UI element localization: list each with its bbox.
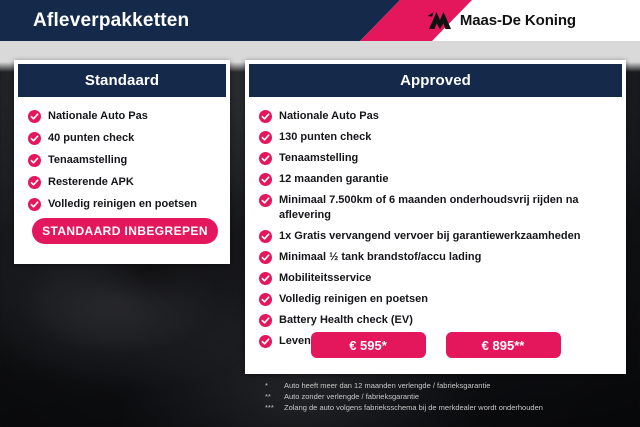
feature-label: Battery Health check (EV) bbox=[279, 313, 413, 328]
footnote-item: *** Zolang de auto volgens fabrieksschem… bbox=[265, 402, 625, 413]
feature-label: Minimaal 7.500km of 6 maanden onderhouds… bbox=[279, 193, 614, 223]
check-circle-icon bbox=[259, 152, 272, 165]
check-circle-icon bbox=[28, 154, 41, 167]
check-circle-icon bbox=[28, 176, 41, 189]
feature-label: Volledig reinigen en poetsen bbox=[279, 292, 428, 307]
footnote-marker: * bbox=[265, 380, 278, 391]
feature-label: 130 punten check bbox=[279, 130, 371, 145]
feature-label: 1x Gratis vervangend vervoer bij garanti… bbox=[279, 229, 580, 244]
list-item: Battery Health check (EV) bbox=[259, 313, 614, 328]
check-circle-icon bbox=[28, 110, 41, 123]
list-item: Tenaamstelling bbox=[259, 151, 614, 166]
price-button-895[interactable]: € 895** bbox=[446, 332, 561, 358]
feature-label: Tenaamstelling bbox=[48, 153, 127, 168]
card-header-standaard: Standaard bbox=[18, 64, 226, 97]
card-title-standaard: Standaard bbox=[85, 72, 159, 89]
check-circle-icon bbox=[28, 198, 41, 211]
feature-label: Minimaal ½ tank brandstof/accu lading bbox=[279, 250, 481, 265]
standaard-inbegrepen-button[interactable]: STANDAARD INBEGREPEN bbox=[32, 218, 218, 244]
page-header: Afleverpakketten Maas-De Koning bbox=[0, 0, 640, 41]
check-circle-icon bbox=[28, 132, 41, 145]
price-button-595[interactable]: € 595* bbox=[311, 332, 426, 358]
feature-list-standaard: Nationale Auto Pas 40 punten check Tenaa… bbox=[14, 97, 230, 212]
footnote-marker: *** bbox=[265, 402, 278, 413]
footnote-item: ** Auto zonder verlengde / fabrieksgaran… bbox=[265, 391, 625, 402]
feature-label: Resterende APK bbox=[48, 175, 134, 190]
feature-label: Tenaamstelling bbox=[279, 151, 358, 166]
check-circle-icon bbox=[259, 230, 272, 243]
feature-label: 40 punten check bbox=[48, 131, 134, 146]
brand-name: Maas-De Koning bbox=[460, 12, 576, 29]
list-item: Mobiliteitsservice bbox=[259, 271, 614, 286]
feature-label: 12 maanden garantie bbox=[279, 172, 388, 187]
list-item: 130 punten check bbox=[259, 130, 614, 145]
package-card-approved: Approved Nationale Auto Pas 130 punten c… bbox=[245, 60, 626, 374]
list-item: 12 maanden garantie bbox=[259, 172, 614, 187]
check-circle-icon bbox=[259, 251, 272, 264]
promo-banner: Afleverpakketten Maas-De Koning Standaar… bbox=[0, 0, 640, 427]
list-item: Nationale Auto Pas bbox=[28, 109, 220, 124]
list-item: Resterende APK bbox=[28, 175, 220, 190]
check-circle-icon bbox=[259, 173, 272, 186]
list-item: 40 punten check bbox=[28, 131, 220, 146]
feature-label: Nationale Auto Pas bbox=[279, 109, 379, 124]
card-header-approved: Approved bbox=[249, 64, 622, 97]
list-item: Minimaal 7.500km of 6 maanden onderhouds… bbox=[259, 193, 614, 223]
footnote-item: * Auto heeft meer dan 12 maanden verleng… bbox=[265, 380, 625, 391]
check-circle-icon bbox=[259, 194, 272, 207]
feature-label: Volledig reinigen en poetsen bbox=[48, 197, 197, 212]
maas-de-koning-logo-icon bbox=[427, 11, 453, 30]
list-item: Tenaamstelling bbox=[28, 153, 220, 168]
package-card-standaard: Standaard Nationale Auto Pas 40 punten c… bbox=[14, 60, 230, 264]
list-item: 1x Gratis vervangend vervoer bij garanti… bbox=[259, 229, 614, 244]
list-item: Minimaal ½ tank brandstof/accu lading bbox=[259, 250, 614, 265]
card-title-approved: Approved bbox=[400, 72, 471, 89]
list-item: Volledig reinigen en poetsen bbox=[259, 292, 614, 307]
price-button-row: € 595* € 895** bbox=[245, 332, 626, 358]
footnote-text: Zolang de auto volgens fabrieksschema bi… bbox=[284, 402, 625, 413]
check-circle-icon bbox=[259, 131, 272, 144]
page-title: Afleverpakketten bbox=[33, 0, 189, 41]
list-item: Nationale Auto Pas bbox=[259, 109, 614, 124]
check-circle-icon bbox=[259, 293, 272, 306]
list-item: Volledig reinigen en poetsen bbox=[28, 197, 220, 212]
header-grey-band bbox=[0, 41, 640, 62]
brand-logo: Maas-De Koning bbox=[427, 0, 576, 41]
footnote-text: Auto heeft meer dan 12 maanden verlengde… bbox=[284, 380, 625, 391]
feature-label: Nationale Auto Pas bbox=[48, 109, 148, 124]
footnote-list: * Auto heeft meer dan 12 maanden verleng… bbox=[265, 380, 625, 413]
check-circle-icon bbox=[259, 314, 272, 327]
footnote-text: Auto zonder verlengde / fabrieksgarantie bbox=[284, 391, 625, 402]
feature-label: Mobiliteitsservice bbox=[279, 271, 371, 286]
footnote-marker: ** bbox=[265, 391, 278, 402]
feature-list-approved: Nationale Auto Pas 130 punten check Tena… bbox=[245, 97, 626, 349]
check-circle-icon bbox=[259, 272, 272, 285]
check-circle-icon bbox=[259, 110, 272, 123]
